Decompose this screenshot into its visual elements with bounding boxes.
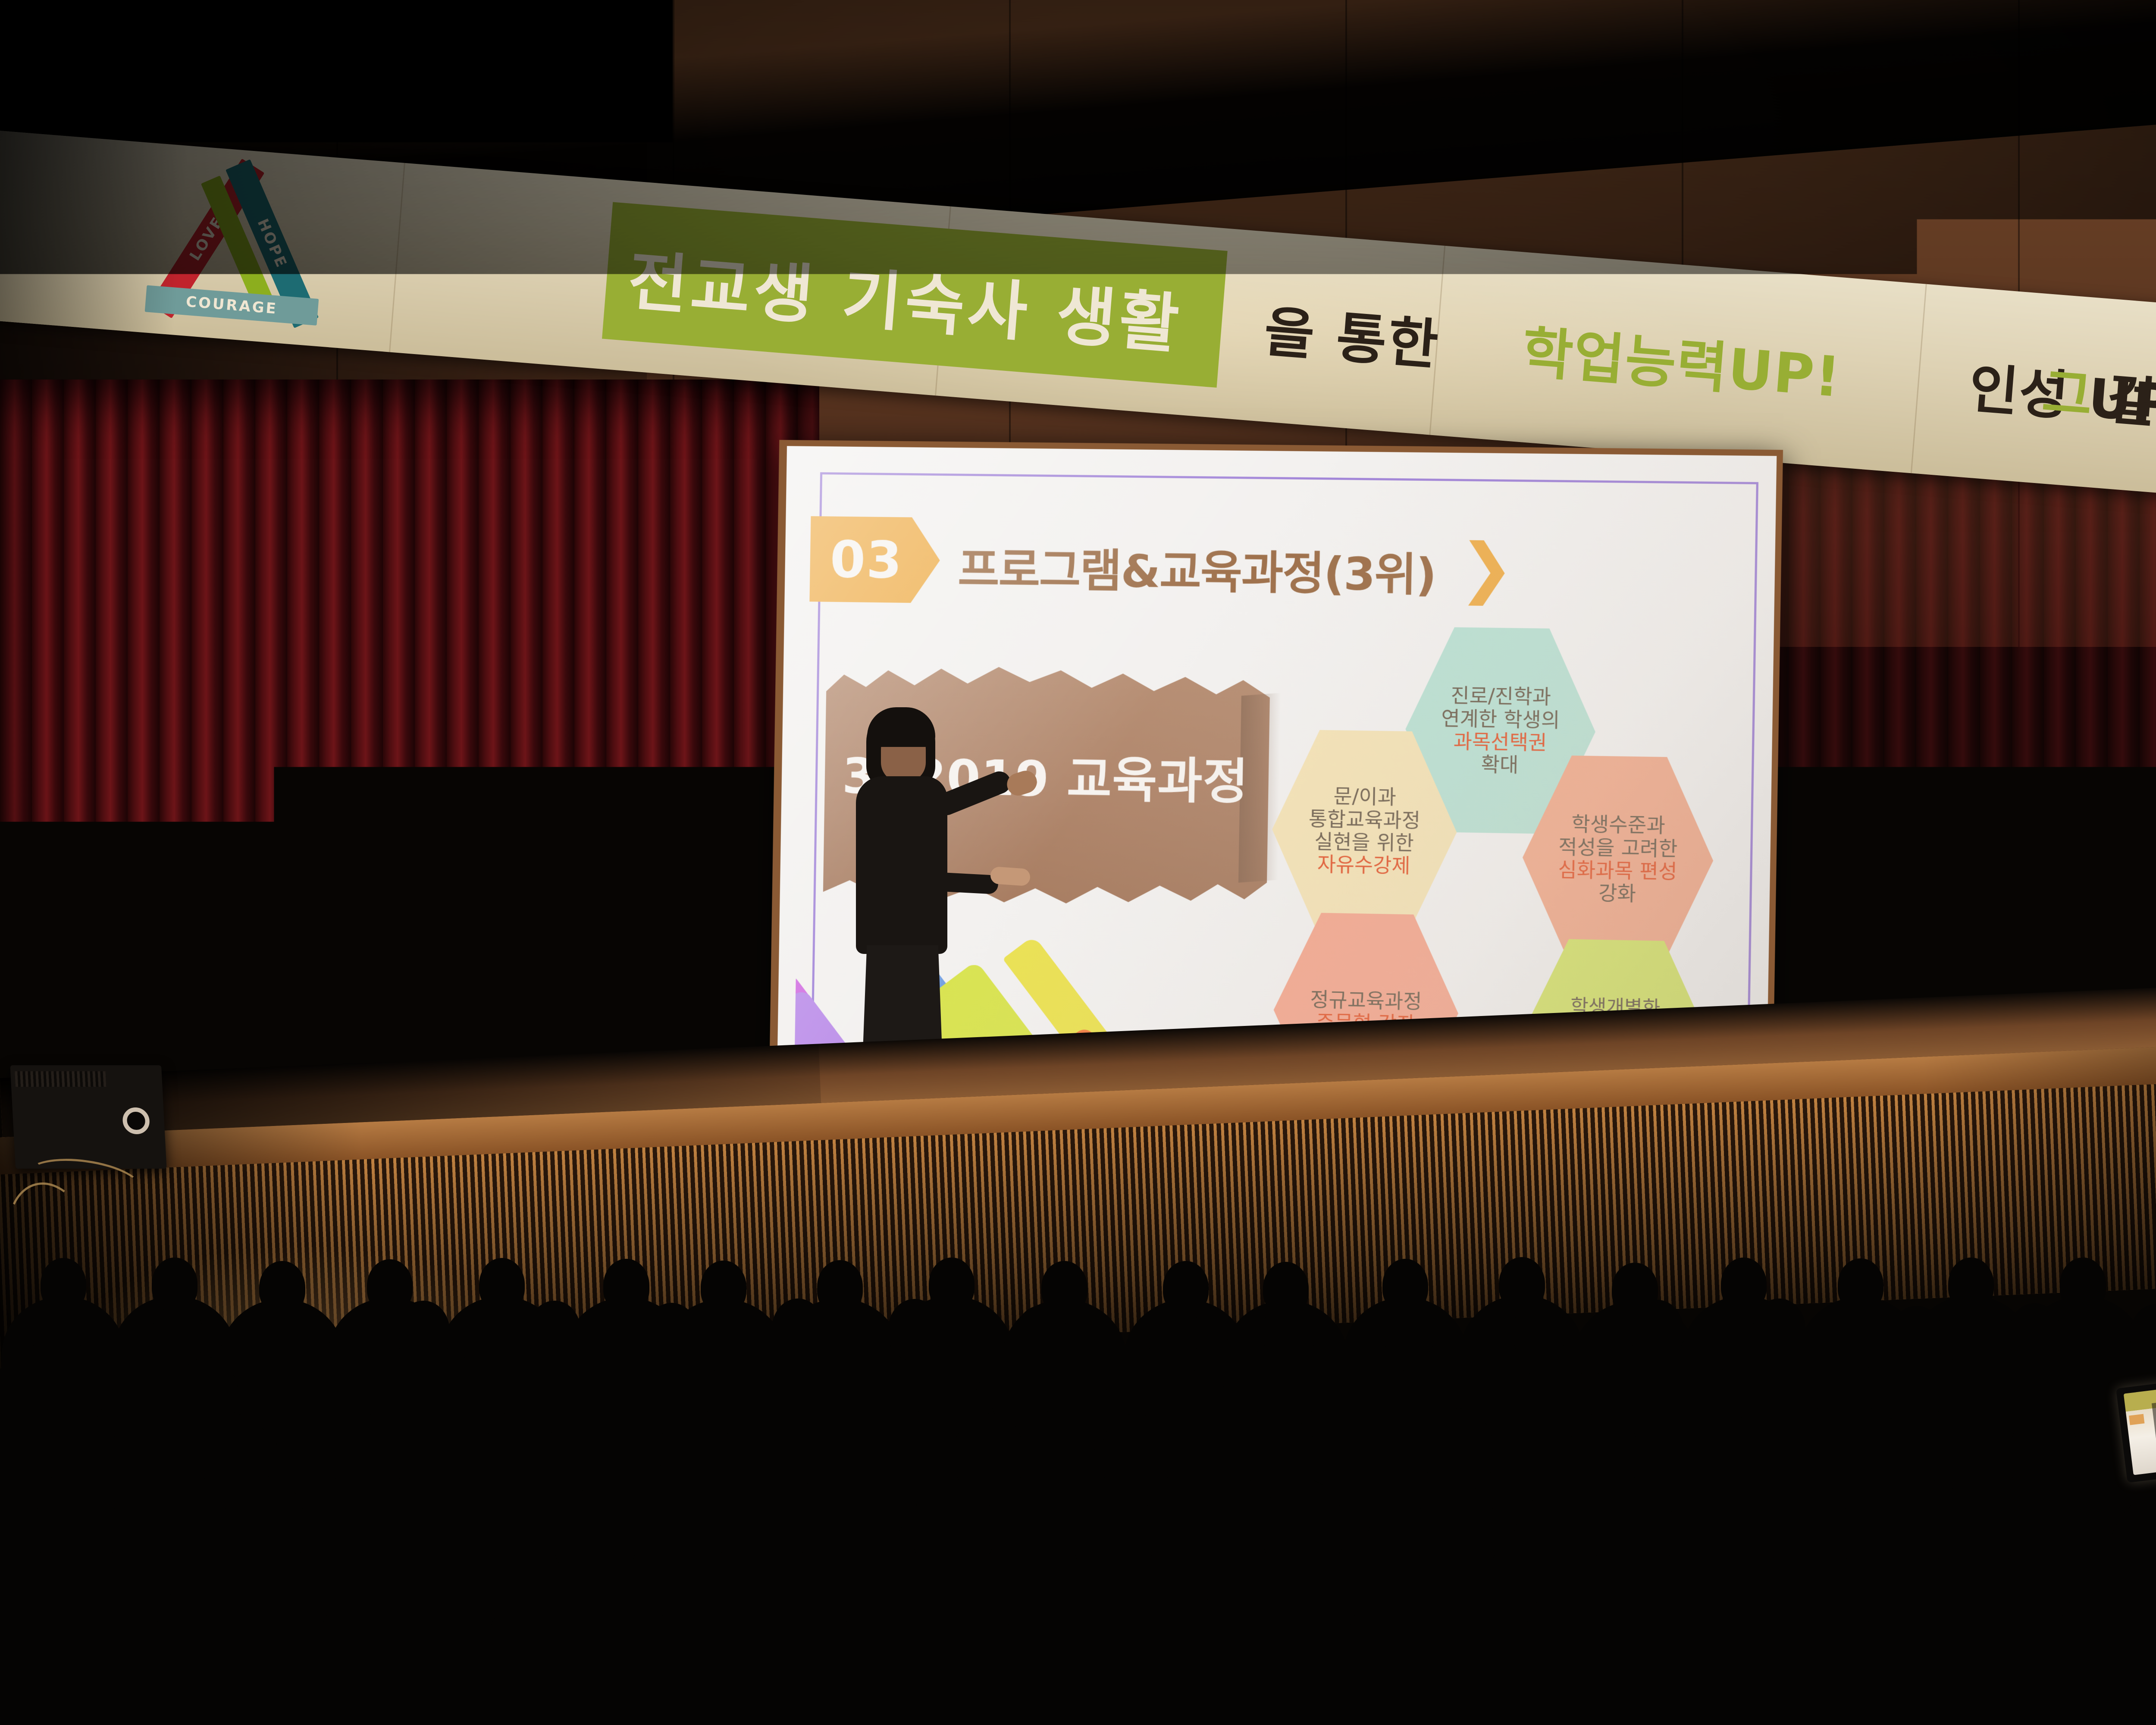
audience-silhouettes bbox=[0, 1035, 2156, 1725]
hexagon-line: 연계한 학생의 bbox=[1441, 707, 1560, 731]
audience-member-head bbox=[1935, 1357, 1996, 1427]
audience-member-head bbox=[603, 1259, 649, 1312]
audience-member-head bbox=[274, 1306, 327, 1367]
audience-member-head bbox=[660, 1409, 730, 1491]
audience-member-head bbox=[151, 1305, 204, 1366]
slide-section-number: 03 bbox=[830, 529, 903, 590]
hexagon-line: 적성을 고려한 bbox=[1558, 835, 1678, 860]
audience-member-head bbox=[1513, 1300, 1565, 1361]
audience-member-head bbox=[397, 1301, 450, 1361]
hexagon-line: 진로/진학과 bbox=[1451, 684, 1551, 708]
audience-member-head bbox=[1868, 1417, 1938, 1498]
audience-member-head bbox=[485, 1409, 555, 1491]
audience-member-head bbox=[817, 1260, 863, 1313]
audience-member-head bbox=[888, 1299, 941, 1360]
audience-member-head bbox=[1263, 1300, 1316, 1361]
audience-member-head bbox=[1814, 1354, 1875, 1424]
audience-member-head bbox=[2009, 1303, 2061, 1364]
audience-member-head bbox=[1383, 1299, 1435, 1360]
audience-member-head bbox=[1101, 1414, 1171, 1496]
audience-member-head bbox=[1838, 1258, 1883, 1311]
audience-member-head bbox=[528, 1301, 581, 1361]
banner-segment-2: 을 통한 bbox=[1262, 288, 1443, 380]
audience-member-head bbox=[479, 1258, 525, 1311]
audience-member-head bbox=[929, 1258, 975, 1311]
audience-member-head bbox=[1769, 1484, 1851, 1579]
hexagon-line: 문/이과 bbox=[1333, 785, 1396, 809]
audience-member-head bbox=[804, 1420, 874, 1502]
audience-member-head bbox=[152, 1258, 197, 1311]
hexagon-line: 과목선택권 bbox=[1453, 730, 1547, 754]
banner-segment-6: 걸음을 bbox=[2104, 356, 2156, 445]
audience-member-head bbox=[2060, 1258, 2106, 1311]
audience-member-head bbox=[912, 1479, 994, 1574]
presenter-hair-front bbox=[867, 707, 935, 747]
audience-member-head bbox=[1753, 1298, 1805, 1359]
audience-member-head bbox=[35, 1477, 117, 1572]
audience-member-head bbox=[646, 1303, 698, 1364]
audience-member-head bbox=[862, 1356, 922, 1426]
audience-member-head bbox=[1416, 1483, 1498, 1578]
audience-member-head bbox=[320, 1350, 381, 1420]
audience-member-head bbox=[582, 1357, 642, 1427]
audience-member-head bbox=[701, 1261, 746, 1314]
hexagon-line: 확대 bbox=[1481, 753, 1519, 776]
audience-member-head bbox=[1262, 1479, 1344, 1574]
audience-member-head bbox=[554, 1488, 636, 1583]
audience-member-head bbox=[1890, 1306, 1943, 1367]
hexagon-line: 심화과목 편성 bbox=[1558, 858, 1677, 883]
stage-curtain-left bbox=[0, 379, 819, 1138]
audience-member-head bbox=[2009, 1413, 2079, 1495]
audience-member-head bbox=[1072, 1484, 1154, 1579]
slide-title: 프로그램&교육과정(3위) bbox=[958, 533, 1437, 604]
audience-member-head bbox=[442, 1357, 503, 1427]
auditorium-scene: LOVE HOPE COURAGE 전교생 기숙사 생활 을 통한 학업능력UP… bbox=[0, 0, 2156, 1725]
audience-member-head bbox=[772, 1298, 824, 1359]
ribbon-courage-label: COURAGE bbox=[185, 293, 279, 318]
audience-member-head bbox=[1254, 1356, 1315, 1427]
hexagon-line: 학생수준과 bbox=[1571, 812, 1665, 837]
presenter-torso bbox=[856, 776, 947, 954]
banner-segment-5: 그 bbox=[2040, 349, 2096, 431]
audience-member-head bbox=[709, 1354, 770, 1424]
audience-member-head bbox=[1933, 1482, 2015, 1577]
audience-member-head bbox=[1711, 1417, 1782, 1499]
audience-member-head bbox=[223, 1477, 305, 1572]
audience-member-head bbox=[1147, 1301, 1199, 1362]
ceiling-dark-corner bbox=[0, 0, 673, 142]
audience-member-head bbox=[721, 1489, 803, 1584]
stage-curtain-right bbox=[1725, 453, 2156, 1082]
audience-member-head bbox=[385, 1490, 467, 1584]
audience-member-head bbox=[1592, 1480, 1674, 1575]
ribbon-hope-label: HOPE bbox=[254, 216, 291, 271]
audience-member-head bbox=[31, 1298, 84, 1359]
hexagon-line: 정규교육과정 bbox=[1310, 988, 1422, 1013]
hexagon-line: 통합교육과정 bbox=[1309, 807, 1421, 832]
chevron-right-icon: ❯ bbox=[1458, 535, 1515, 601]
hexagon-line: 실현을 위한 bbox=[1314, 830, 1414, 855]
audience-member-head bbox=[1525, 1356, 1586, 1427]
audience-member-head bbox=[1424, 1409, 1494, 1490]
audience-member-head bbox=[1667, 1354, 1728, 1424]
hexagon-line: 강화 bbox=[1598, 882, 1636, 906]
phone-screen bbox=[2124, 1388, 2156, 1475]
audience-member-head bbox=[1138, 1354, 1199, 1424]
audience-member-head bbox=[1721, 1258, 1767, 1311]
presenter-left-hand bbox=[990, 866, 1031, 886]
audience-member-head bbox=[332, 1415, 403, 1496]
audience-member-head bbox=[1948, 1258, 1994, 1311]
audience-member-head bbox=[1631, 1300, 1683, 1361]
hexagon-line: 자유수강제 bbox=[1317, 853, 1410, 878]
audience-member-head bbox=[367, 1259, 413, 1312]
